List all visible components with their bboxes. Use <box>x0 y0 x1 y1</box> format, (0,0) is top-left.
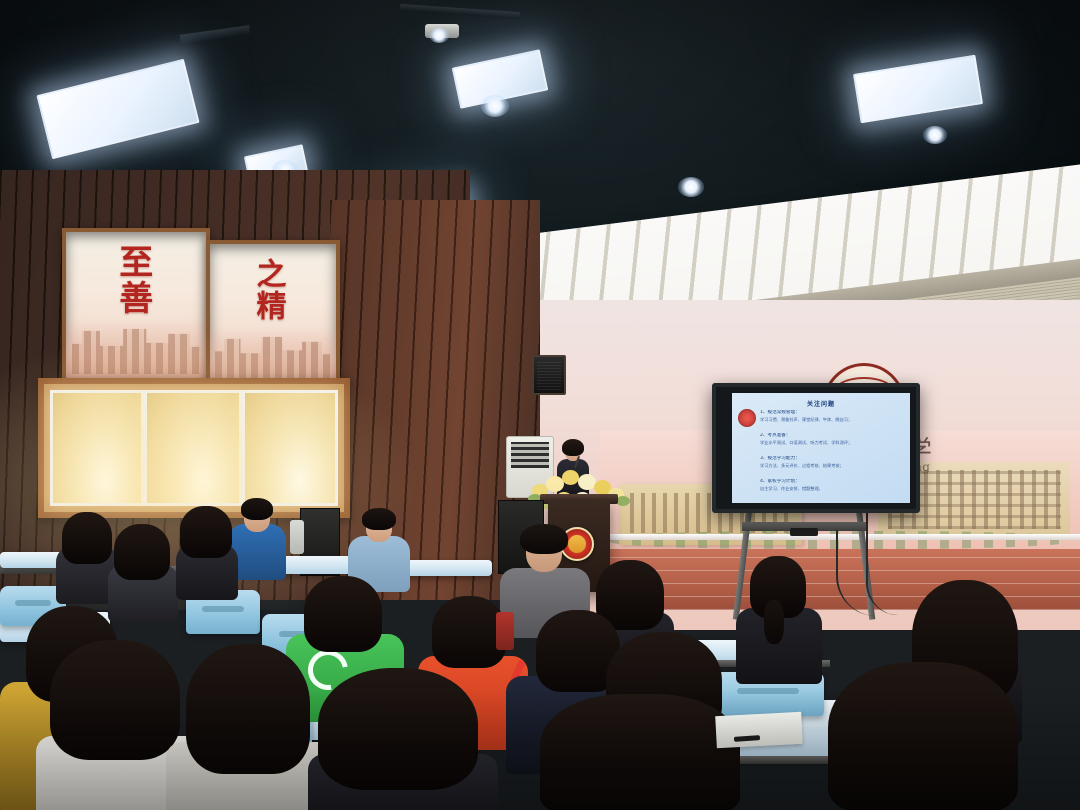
person-hair <box>520 524 568 554</box>
audience-member <box>108 524 178 616</box>
ceiling-downlight-6 <box>429 28 449 43</box>
banner-char-right: 之精 <box>252 258 284 322</box>
left-windows <box>38 378 350 518</box>
audience-member <box>736 556 822 680</box>
slide-line-1-sub: 学习习惯、预备铃声、课堂纪律、午休、晚自习； <box>760 417 904 422</box>
slide-line-2-heading: 2、考点准备： <box>760 433 904 439</box>
person-hair <box>828 662 1018 810</box>
speaker-grill <box>537 360 561 390</box>
person-hair <box>540 694 740 810</box>
photo-scene: 至善 之精 学 long ★★★★ <box>0 0 1080 810</box>
notebook-paper <box>715 712 803 748</box>
wall-loudspeaker <box>532 355 566 395</box>
person-hair <box>304 576 382 652</box>
slide-line-4-heading: 4、家校学习计划： <box>760 479 904 485</box>
calligraphy-banner-left: 至善 <box>62 228 210 384</box>
window-pane-1 <box>50 390 144 506</box>
person-ponytail <box>764 600 784 644</box>
slide-line-3-sub: 学习方法、多元评价、过程考核、结果考核； <box>760 463 904 468</box>
window-pane-3 <box>242 390 338 506</box>
presenter-hair <box>562 439 584 456</box>
audience-member <box>308 668 498 810</box>
chair-handle-slot <box>202 606 243 612</box>
audience-member <box>828 662 1018 810</box>
window-pane-2 <box>144 390 242 506</box>
person-hair <box>432 596 506 668</box>
audience-member <box>540 694 740 810</box>
slide-surface: 关注问题 1、规范常规管理： 学习习惯、预备铃声、课堂纪律、午休、晚自习； 2、… <box>732 393 910 503</box>
chair-handle-slot <box>737 688 800 694</box>
slide-seal-icon <box>738 409 756 427</box>
slide-line-4-sub: 自主学习、作业安排、错题整理。 <box>760 486 904 491</box>
ceiling-downlight-2 <box>481 95 509 117</box>
person-hair <box>318 668 478 790</box>
ceiling-downlight-5 <box>923 126 947 144</box>
slide-line-1-heading: 1、规范常规管理： <box>760 410 904 416</box>
flower <box>562 470 579 485</box>
audience-member <box>176 506 238 596</box>
slide-line-2-sub: 学业水平测试、口语测试、听力考试、学科测评； <box>760 440 904 445</box>
person-hair <box>362 508 396 530</box>
person-hair <box>180 506 232 558</box>
water-bottle <box>290 520 304 554</box>
person-hair <box>241 498 273 520</box>
flower-leaf <box>616 496 630 506</box>
screen-stand-shelf-box <box>790 528 818 536</box>
slide-title: 关注问题 <box>732 399 910 408</box>
person-hair <box>50 640 180 760</box>
presentation-display[interactable]: 关注问题 1、规范常规管理： 学习习惯、预备铃声、课堂纪律、午休、晚自习； 2、… <box>712 383 920 513</box>
person-hair <box>114 524 170 580</box>
calligraphy-banner-right: 之精 <box>206 240 340 390</box>
thermos <box>496 612 514 650</box>
person-hair <box>62 512 112 564</box>
ceiling-downlight-3 <box>678 177 704 197</box>
slide-line-3-heading: 3、规范学习能力： <box>760 456 904 462</box>
banner-char-left: 至善 <box>114 244 150 316</box>
person-hair <box>186 644 310 774</box>
